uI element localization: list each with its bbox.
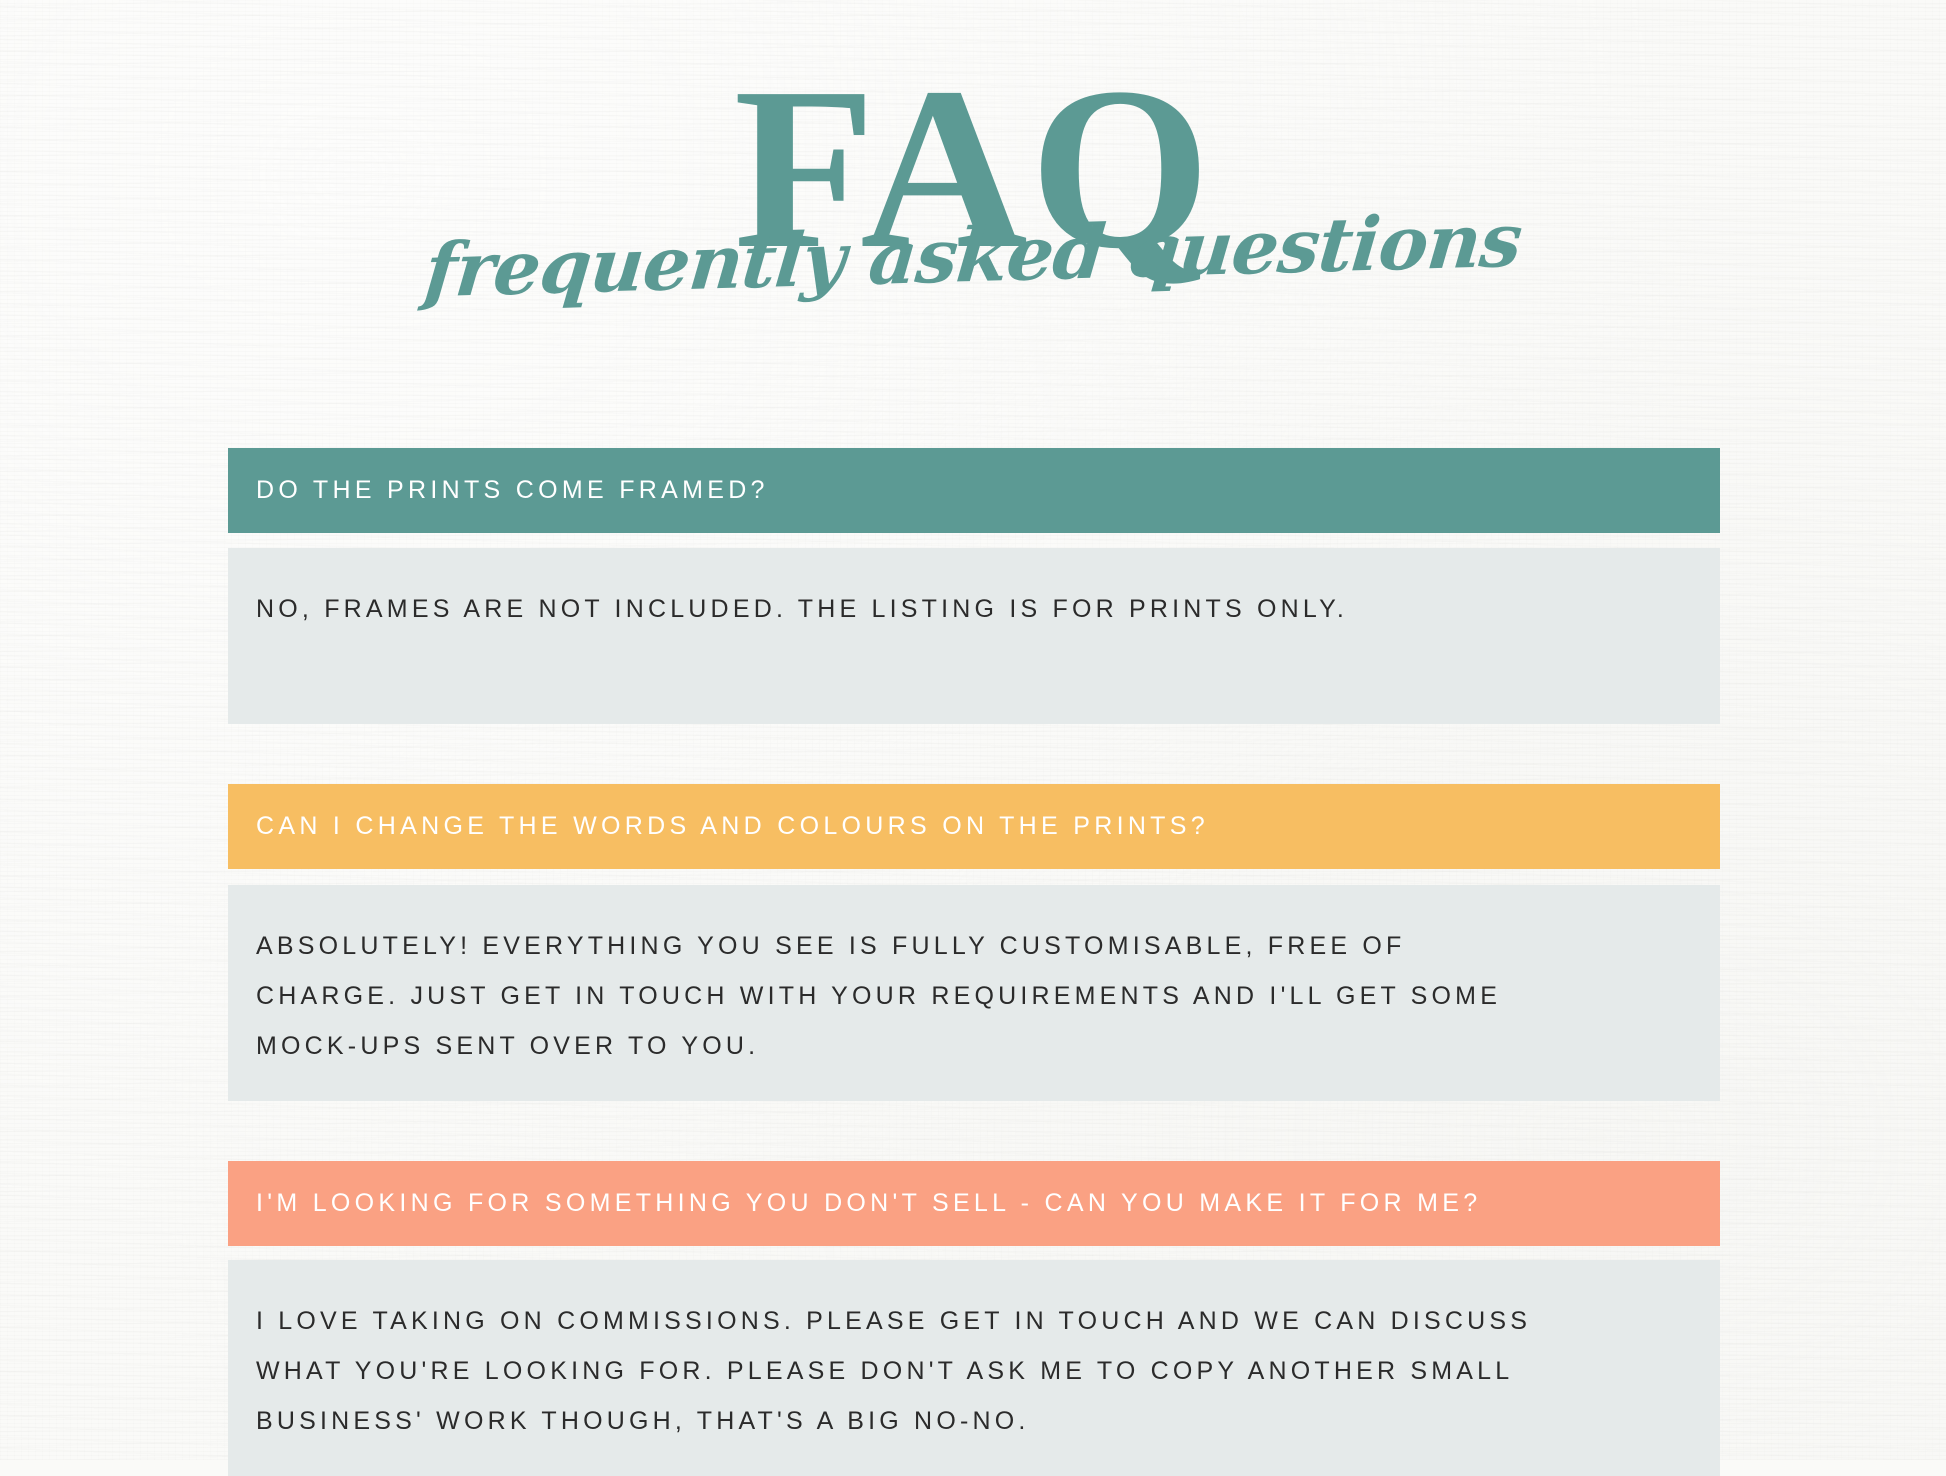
faq-question-header[interactable]: CAN I CHANGE THE WORDS AND COLOURS ON TH… bbox=[228, 784, 1720, 869]
faq-header: FAQ frequently asked questions bbox=[0, 0, 1946, 293]
faq-answer-text: ABSOLUTELY! EVERYTHING YOU SEE IS FULLY … bbox=[256, 921, 1692, 1071]
faq-question-header[interactable]: I'M LOOKING FOR SOMETHING YOU DON'T SELL… bbox=[228, 1161, 1720, 1246]
faq-answer-text: I LOVE TAKING ON COMMISSIONS. PLEASE GET… bbox=[256, 1296, 1692, 1446]
faq-page: FAQ frequently asked questions DO THE PR… bbox=[0, 0, 1946, 1460]
faq-answer-panel: NO, FRAMES ARE NOT INCLUDED. THE LISTING… bbox=[228, 548, 1720, 724]
faq-answer-panel: I LOVE TAKING ON COMMISSIONS. PLEASE GET… bbox=[228, 1260, 1720, 1476]
faq-item: DO THE PRINTS COME FRAMED? NO, FRAMES AR… bbox=[228, 448, 1720, 724]
faq-question-text: I'M LOOKING FOR SOMETHING YOU DON'T SELL… bbox=[256, 1189, 1481, 1218]
faq-question-text: DO THE PRINTS COME FRAMED? bbox=[256, 476, 769, 505]
faq-question-header[interactable]: DO THE PRINTS COME FRAMED? bbox=[228, 448, 1720, 533]
faq-answer-text: NO, FRAMES ARE NOT INCLUDED. THE LISTING… bbox=[256, 584, 1692, 634]
faq-list: DO THE PRINTS COME FRAMED? NO, FRAMES AR… bbox=[228, 448, 1720, 1476]
faq-item: CAN I CHANGE THE WORDS AND COLOURS ON TH… bbox=[228, 784, 1720, 1101]
faq-question-text: CAN I CHANGE THE WORDS AND COLOURS ON TH… bbox=[256, 812, 1209, 841]
faq-answer-panel: ABSOLUTELY! EVERYTHING YOU SEE IS FULLY … bbox=[228, 885, 1720, 1101]
faq-item: I'M LOOKING FOR SOMETHING YOU DON'T SELL… bbox=[228, 1161, 1720, 1476]
